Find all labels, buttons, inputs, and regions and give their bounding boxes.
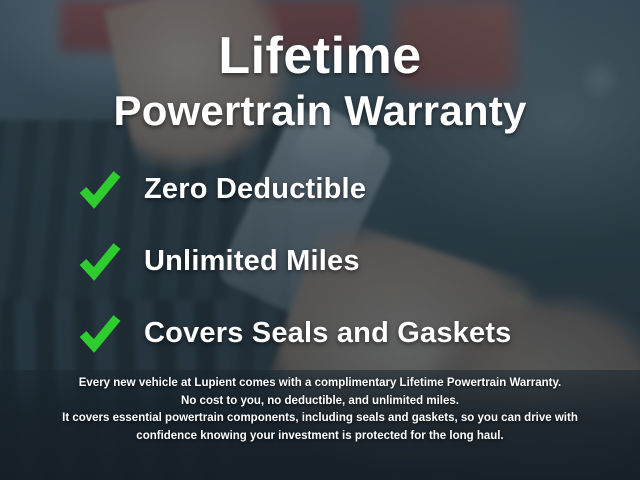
- banner-content: Lifetime Powertrain Warranty Zero Deduct…: [0, 0, 640, 480]
- feature-label: Unlimited Miles: [144, 245, 360, 278]
- feature-label: Zero Deductible: [144, 173, 366, 206]
- feature-label: Covers Seals and Gaskets: [144, 317, 512, 350]
- headline-line1: Lifetime: [218, 30, 421, 83]
- fine-print-line-4: confidence knowing your investment is pr…: [28, 428, 612, 446]
- check-icon: [78, 311, 122, 355]
- fine-print-line-2: No cost to you, no deductible, and unlim…: [28, 393, 612, 411]
- feature-list: Zero Deductible Unlimited Miles Covers S…: [0, 167, 640, 355]
- check-icon: [78, 167, 122, 211]
- check-icon: [78, 239, 122, 283]
- fine-print-line-1: Every new vehicle at Lupient comes with …: [28, 375, 612, 393]
- list-item: Zero Deductible: [78, 167, 640, 211]
- promo-banner: Lifetime Powertrain Warranty Zero Deduct…: [0, 0, 640, 480]
- headline-line2: Powertrain Warranty: [113, 89, 526, 133]
- fine-print: Every new vehicle at Lupient comes with …: [0, 375, 640, 446]
- list-item: Covers Seals and Gaskets: [78, 311, 640, 355]
- fine-print-line-3: It covers essential powertrain component…: [28, 410, 612, 428]
- list-item: Unlimited Miles: [78, 239, 640, 283]
